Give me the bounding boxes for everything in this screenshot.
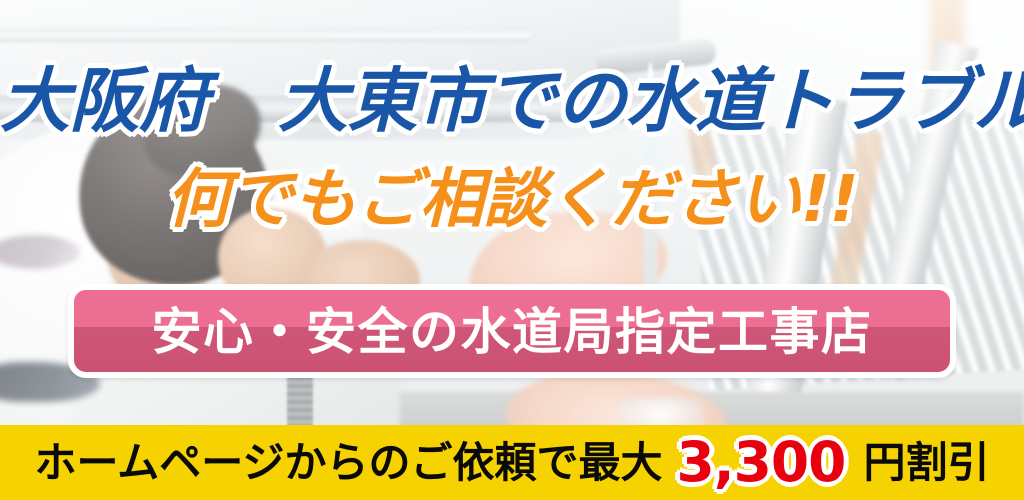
- certification-badge: 安心・安全の水道局指定工事店: [68, 284, 956, 378]
- discount-bar: ホームページからのご依頼で最大 3,300 円割引: [0, 425, 1024, 500]
- banner-content: 大阪府 大東市での水道トラブルなら 何でもご相談ください!! 安心・安全の水道局…: [0, 0, 1024, 500]
- discount-prefix-text: ホームページからのご依頼で最大: [35, 442, 663, 484]
- certification-badge-label: 安心・安全の水道局指定工事店: [152, 307, 873, 357]
- promo-banner: 大阪府 大東市での水道トラブルなら 何でもご相談ください!! 安心・安全の水道局…: [0, 0, 1024, 500]
- discount-amount: 3,300: [676, 435, 845, 490]
- discount-suffix-text: 円割引: [863, 442, 989, 484]
- headline-line-2: 何でもご相談ください!!: [0, 168, 1024, 232]
- headline-line-1: 大阪府 大東市での水道トラブルなら: [0, 66, 1024, 136]
